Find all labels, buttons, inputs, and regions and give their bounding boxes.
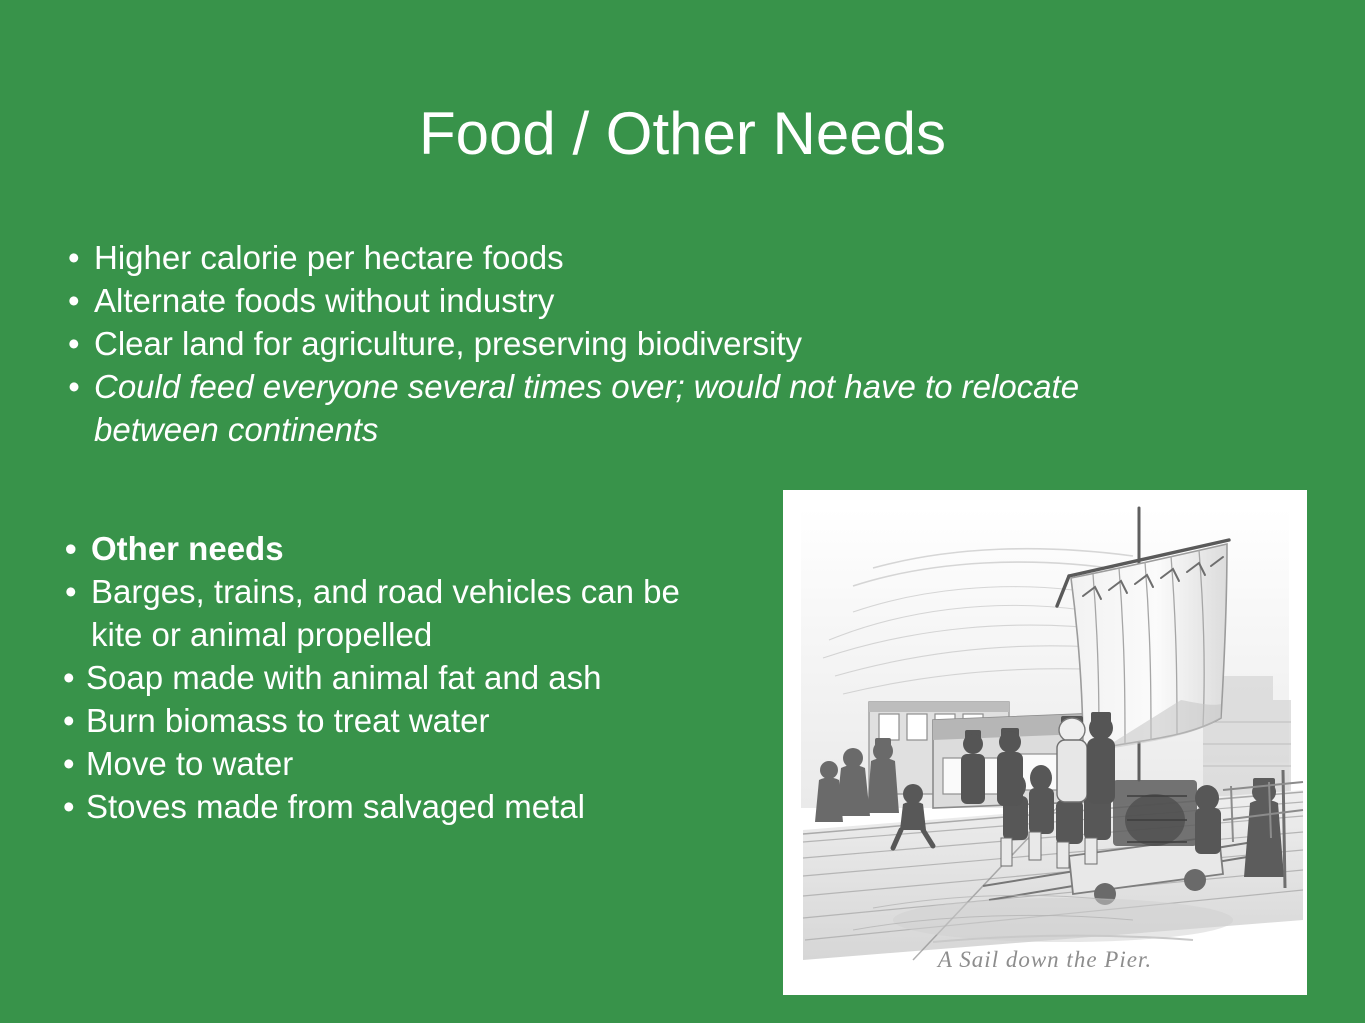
bullet-item: Burn biomass to treat water — [57, 699, 767, 742]
bullet-item: Clear land for agriculture, preserving b… — [60, 322, 1240, 365]
bullet-text: Burn biomass to treat water — [86, 702, 490, 739]
bullet-text: Other needs — [91, 530, 284, 567]
bullet-item: Higher calorie per hectare foods — [60, 236, 1240, 279]
bullet-item: Stoves made from salvaged metal — [57, 785, 767, 828]
bullet-item: Alternate foods without industry — [60, 279, 1240, 322]
illustration-caption: A Sail down the Pier. — [783, 947, 1307, 973]
bullet-text: Could feed everyone several times over; … — [94, 368, 1079, 405]
bullet-text-continuation: between continents — [94, 408, 1240, 451]
bullet-block-secondary: Other needs Barges, trains, and road veh… — [57, 527, 767, 828]
presentation-slide: Food / Other Needs Higher calorie per he… — [0, 0, 1365, 1023]
bullet-block-primary: Higher calorie per hectare foods Alterna… — [60, 236, 1240, 451]
bullet-item: Move to water — [57, 742, 767, 785]
bullet-text: Alternate foods without industry — [94, 282, 554, 319]
bullet-item-heading: Other needs — [57, 527, 767, 570]
bullet-text: Stoves made from salvaged metal — [86, 788, 585, 825]
bullet-text: Soap made with animal fat and ash — [86, 659, 601, 696]
slide-title: Food / Other Needs — [0, 99, 1365, 169]
bullet-item: Could feed everyone several times over; … — [60, 365, 1240, 451]
slide-illustration: A Sail down the Pier. — [783, 490, 1307, 995]
bullet-text: Clear land for agriculture, preserving b… — [94, 325, 802, 362]
bullet-item: Soap made with animal fat and ash — [57, 656, 767, 699]
bullet-text: Barges, trains, and road vehicles can be — [91, 573, 680, 610]
sail-pier-engraving-graphic — [783, 490, 1307, 995]
bullet-text-continuation: kite or animal propelled — [91, 613, 767, 656]
bullet-item: Barges, trains, and road vehicles can be… — [57, 570, 767, 656]
bullet-text: Move to water — [86, 745, 293, 782]
bullet-text: Higher calorie per hectare foods — [94, 239, 564, 276]
